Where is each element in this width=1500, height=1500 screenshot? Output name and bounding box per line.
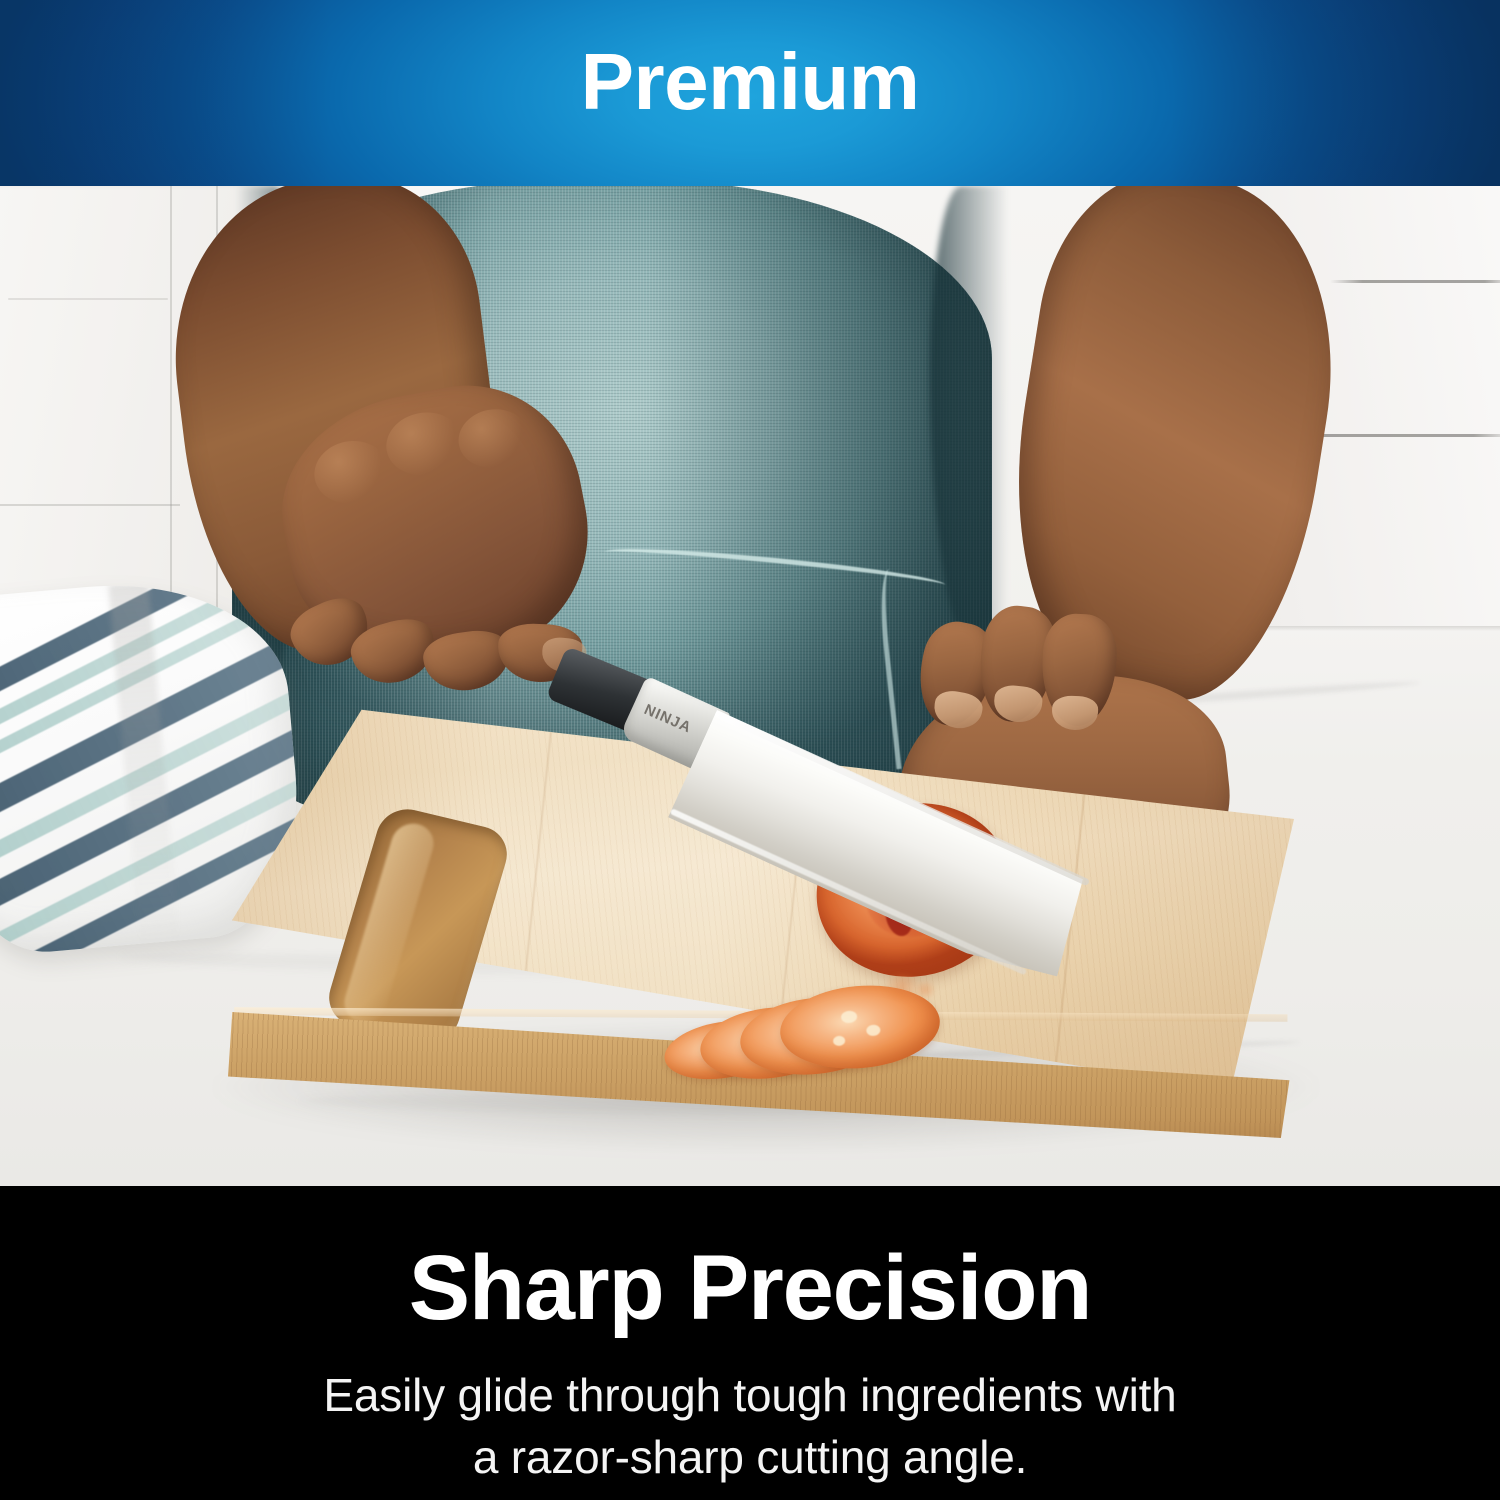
banner-title: Premium	[0, 38, 1500, 126]
feature-subcopy-line-1: Easily glide through tough ingredients w…	[0, 1364, 1500, 1426]
tomato-seed	[841, 1010, 858, 1023]
feature-subcopy: Easily glide through tough ingredients w…	[0, 1364, 1500, 1488]
product-feature-card: Premium	[0, 0, 1500, 1500]
tomato-seed	[833, 1035, 846, 1046]
feature-headline: Sharp Precision	[0, 1242, 1500, 1334]
premium-banner: Premium	[0, 0, 1500, 186]
tomato-seed	[866, 1024, 881, 1036]
feature-subcopy-line-2: a razor-sharp cutting angle.	[0, 1426, 1500, 1488]
product-photo: NINJA	[0, 186, 1500, 1186]
feature-caption-panel: Sharp Precision Easily glide through tou…	[0, 1186, 1500, 1500]
